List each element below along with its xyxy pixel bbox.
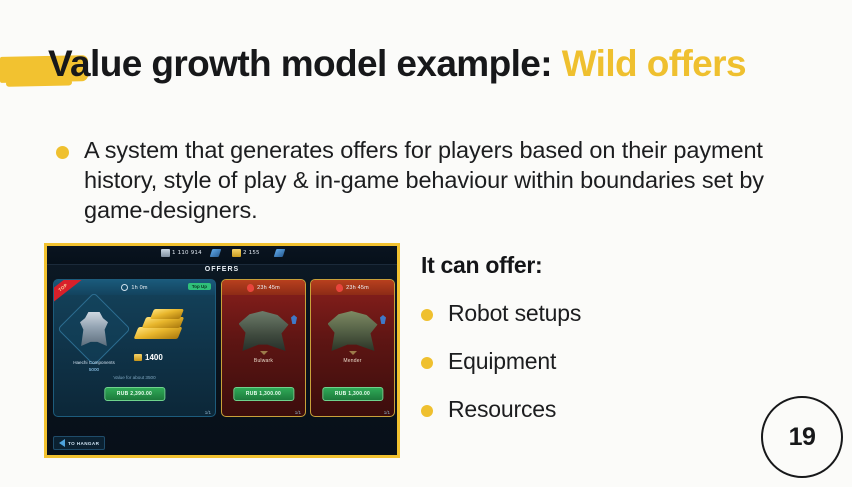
add-silver-button[interactable] [211,249,220,257]
robot-name: Mender [311,358,394,364]
top-up-badge[interactable]: Top Up [188,283,211,290]
game-screenshot: 1 110 914 2 155 OFFERS 1h 0m TOP [44,243,400,458]
fire-icon [336,283,344,292]
gold-icon [134,354,142,361]
silver-icon [161,249,170,257]
to-hangar-label: TO HANGAR [68,441,99,446]
page-title-highlight: Wild offers [562,43,746,84]
description-block: A system that generates offers for playe… [56,135,836,225]
gold-bars-icon [132,305,188,351]
bullet-dot-icon [421,357,433,369]
offer-card-bundle[interactable]: 1h 0m TOP Top Up Haechi Component [53,279,216,417]
offer-card-body: Haechi Components 5000 1400 Value for ab… [54,295,215,417]
clock-icon [121,284,128,291]
component-item-slot[interactable] [68,303,120,355]
list-item: Robot setups [421,300,721,327]
buy-button[interactable]: RUB 1,300.00 [322,387,383,401]
offers-screen-title: OFFERS [47,266,397,273]
component-item-label: Haechi Components 5000 [58,359,130,373]
offer-card-body: Mender RUB 1,300.00 1/1 [311,295,394,417]
card-pager: 1/1 [205,410,211,415]
currency-silver: 1 110 914 [161,249,202,257]
offer-timer: 23h 45m [346,285,369,291]
offer-types-list: Robot setups Equipment Resources [421,300,721,423]
mech-icon [239,311,289,351]
buy-button[interactable]: RUB 1,300.00 [233,387,294,401]
offer-value-note: Value for about 3500 [54,375,215,380]
component-item-amount: 5000 [89,367,99,372]
list-item: Equipment [421,348,721,375]
list-item-label: Robot setups [448,300,581,326]
offer-cards-row: 1h 0m TOP Top Up Haechi Component [53,279,397,419]
game-hud-bar: 1 110 914 2 155 [47,246,397,265]
page-number-badge: 19 [761,396,843,478]
module-slot-icon [291,315,297,324]
offer-timer: 1h 0m [131,285,147,291]
offer-types-block: It can offer: Robot setups Equipment Res… [421,252,721,423]
bullet-dot-icon [421,309,433,321]
gold-bar [150,309,184,319]
plus-token-icon [274,249,286,257]
add-gold-button[interactable] [275,249,284,257]
module-slot-icon [380,315,386,324]
offer-card-header: 23h 45m [222,280,305,295]
robot-name: Bulwark [222,358,305,364]
buy-button[interactable]: RUB 2,390.00 [104,387,165,401]
card-pager: 1/1 [295,410,301,415]
page-title: Value growth model example: Wild offers [48,36,838,92]
mech-icon [328,311,378,351]
offer-types-heading: It can offer: [421,252,721,279]
offer-timer: 23h 45m [257,285,280,291]
gold-icon [232,249,241,257]
currency-silver-value: 1 110 914 [172,250,202,256]
bullet-dot-icon [421,405,433,417]
page-title-main: Value growth model example: [48,43,552,84]
slide-root: Value growth model example: Wild offers … [0,0,852,487]
gold-bar [134,327,183,339]
currency-gold: 2 155 [232,249,260,257]
list-item-label: Resources [448,396,556,422]
chevron-up-icon [349,351,357,355]
arrow-left-icon [59,439,65,447]
to-hangar-button[interactable]: TO HANGAR [53,436,105,450]
list-item: Resources [421,396,721,423]
list-item-label: Equipment [448,348,556,374]
bullet-dot-icon [56,146,69,159]
component-item-name: Haechi Components [73,360,115,365]
offer-card-body: Bulwark RUB 1,300.00 1/1 [222,295,305,417]
chevron-up-icon [260,351,268,355]
plus-token-icon [210,249,222,257]
page-number: 19 [763,398,841,476]
currency-gold-value: 2 155 [243,250,260,256]
card-pager: 1/1 [384,410,390,415]
fire-icon [247,283,255,292]
title-row: Value growth model example: Wild offers [0,36,852,92]
offer-card-header: 23h 45m [311,280,394,295]
offer-card-robot-bulwark[interactable]: 23h 45m Bulwark RUB 1,300.00 1/1 [221,279,306,417]
description-text: A system that generates offers for playe… [84,135,836,225]
offer-card-robot-mender[interactable]: 23h 45m Mender RUB 1,300.00 1/1 [310,279,395,417]
gold-amount-label: 1400 [134,353,188,362]
gold-amount-value: 1400 [145,353,163,362]
